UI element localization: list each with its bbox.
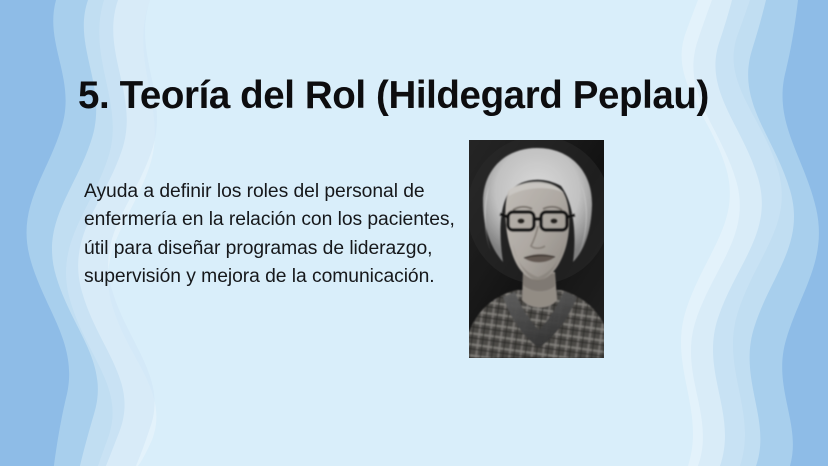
slide-title: 5. Teoría del Rol (Hildegard Peplau) [78,74,778,118]
wave-right-mid [713,0,828,466]
wave-left-darkest [0,0,69,466]
wave-right-dark [748,0,828,466]
portrait-image [469,140,604,358]
portrait-illustration [469,140,604,358]
wave-right-light [681,0,828,466]
wave-right-highlight [691,0,782,466]
slide-canvas: 5. Teoría del Rol (Hildegard Peplau) Ayu… [0,0,828,466]
slide-body-text: Ayuda a definir los roles del personal d… [84,178,462,291]
wave-right-darkest [782,0,828,466]
